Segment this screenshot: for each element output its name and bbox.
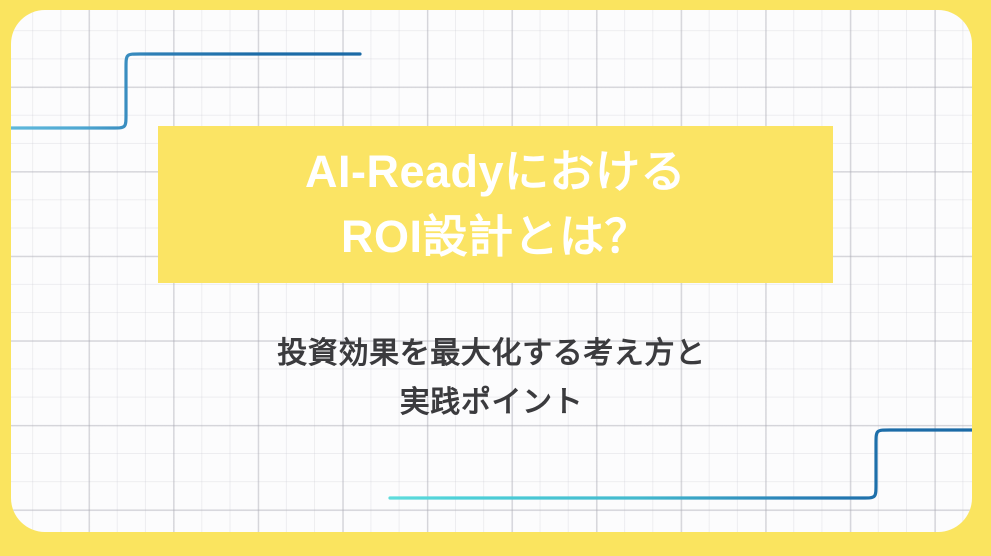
subtitle: 投資効果を最大化する考え方と 実践ポイント: [11, 330, 972, 427]
top-left-step-line: [11, 54, 360, 128]
page-title-line-2: ROI設計とは？: [341, 205, 650, 270]
title-band: AI-Readyにおける ROI設計とは？: [158, 126, 833, 283]
page-title-line-1: AI-Readyにおける: [305, 140, 686, 205]
slide-inner-panel: AI-Readyにおける ROI設計とは？ 投資効果を最大化する考え方と 実践ポ…: [11, 10, 972, 532]
slide-canvas: AI-Readyにおける ROI設計とは？ 投資効果を最大化する考え方と 実践ポ…: [0, 0, 991, 556]
subtitle-line-1: 投資効果を最大化する考え方と: [11, 330, 972, 379]
bottom-right-step-line: [390, 430, 972, 498]
subtitle-line-2: 実践ポイント: [11, 379, 972, 428]
